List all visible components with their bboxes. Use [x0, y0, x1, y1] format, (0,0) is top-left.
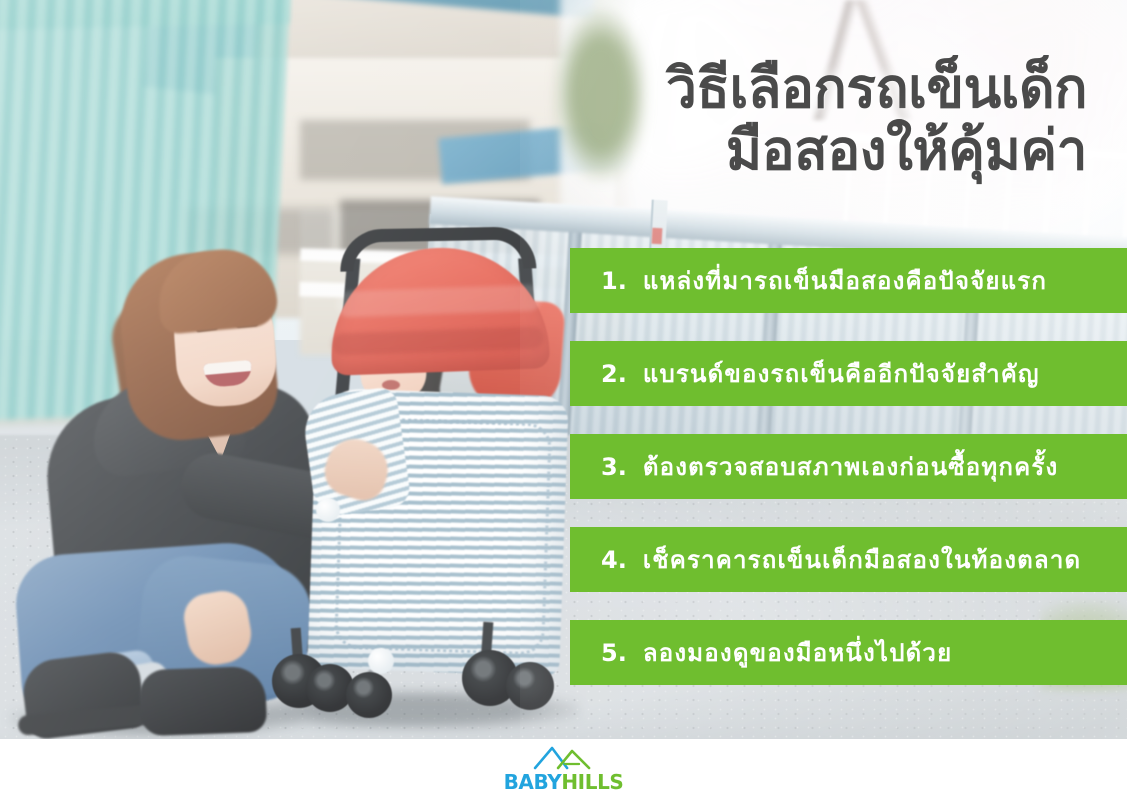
infographic-poster: วิธีเลือกรถเข็นเด็ก มือสองให้คุ้มค่า 1. … [0, 0, 1127, 800]
photo-fence-sign-red-mark [652, 228, 663, 245]
list-item-number: 4. [601, 548, 627, 572]
list-item-label: ต้องตรวจสอบสภาพเองก่อนซื้อทุกครั้ง [643, 455, 1059, 479]
list-item-label: แบรนด์ของรถเข็นคืออีกปัจจัยสำคัญ [643, 362, 1040, 386]
photo-blanket-pompom-bottom [368, 648, 394, 674]
tips-list: 1. แหล่งที่มารถเข็นมือสองคือปัจจัยแรก 2.… [570, 248, 1127, 685]
list-item-number: 3. [601, 455, 627, 479]
list-item[interactable]: 5. ลองมองดูของมือหนึ่งไปด้วย [570, 620, 1127, 685]
title-line-2: มือสองให้คุ้มค่า [527, 120, 1087, 182]
photo-blanket-pompom-top [316, 498, 340, 522]
list-item-label: แหล่งที่มารถเข็นมือสองคือปัจจัยแรก [643, 269, 1047, 293]
footer-bar: BABYHILLS [0, 739, 1127, 800]
brand-word-hills: HILLS [561, 770, 623, 794]
title-line-1: วิธีเลือกรถเข็นเด็ก [527, 58, 1087, 120]
list-item-label: ลองมองดูของมือหนึ่งไปด้วย [643, 641, 953, 665]
photo-mother-shoe-right [139, 666, 267, 736]
photo-stroller-wheel [506, 662, 554, 710]
brand-word-baby: BABY [504, 770, 562, 794]
page-title: วิธีเลือกรถเข็นเด็ก มือสองให้คุ้มค่า [527, 58, 1087, 181]
list-item-label: เช็คราคารถเข็นเด็กมือสองในท้องตลาด [643, 548, 1081, 572]
list-item-number: 2. [601, 362, 627, 386]
list-item[interactable]: 4. เช็คราคารถเข็นเด็กมือสองในท้องตลาด [570, 527, 1127, 592]
photo-stroller-wheel [346, 672, 392, 718]
list-item[interactable]: 3. ต้องตรวจสอบสภาพเองก่อนซื้อทุกครั้ง [570, 434, 1127, 499]
list-item[interactable]: 1. แหล่งที่มารถเข็นมือสองคือปัจจัยแรก [570, 248, 1127, 313]
list-item-number: 5. [601, 641, 627, 665]
list-item-number: 1. [601, 269, 627, 293]
hills-mountain-icon [533, 744, 595, 770]
brand-logo-text: BABYHILLS [504, 772, 624, 792]
list-item[interactable]: 2. แบรนด์ของรถเข็นคืออีกปัจจัยสำคัญ [570, 341, 1127, 406]
brand-logo[interactable]: BABYHILLS [504, 744, 624, 792]
